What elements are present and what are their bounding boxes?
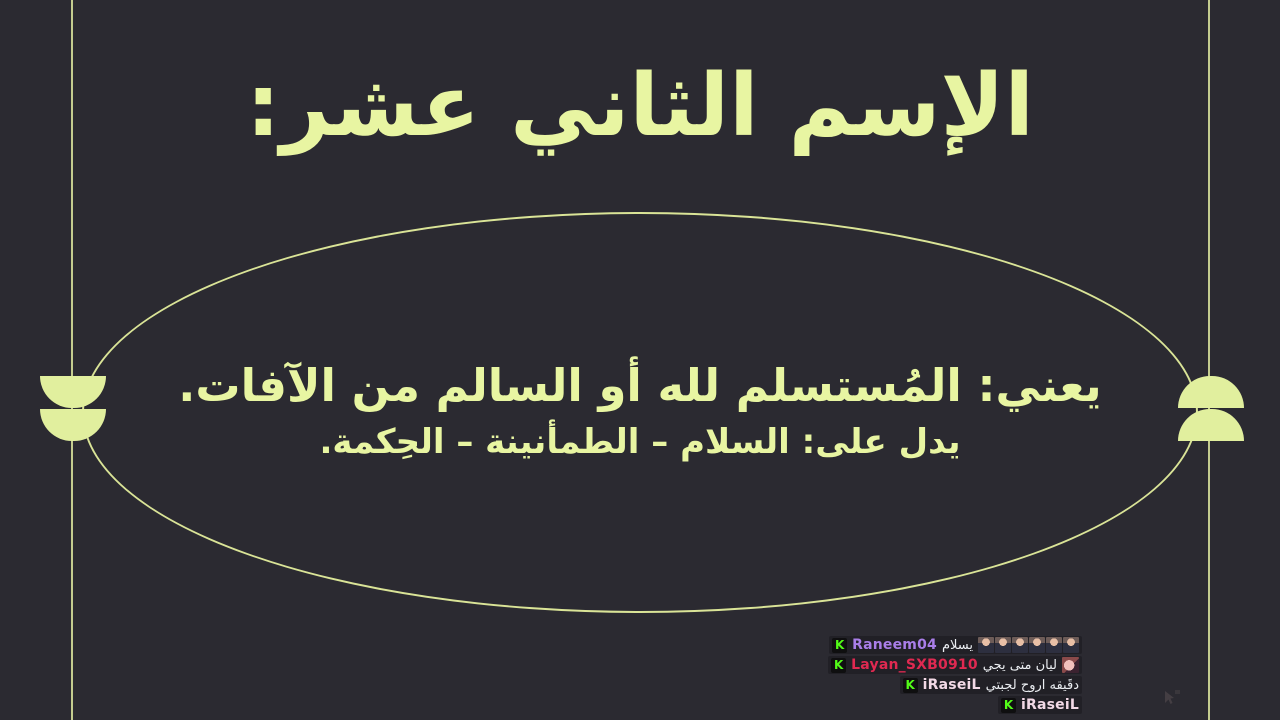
kick-badge-icon: K — [903, 678, 918, 693]
chat-emote-icon — [995, 637, 1011, 653]
chat-username[interactable]: Layan_SXB0910 — [851, 657, 978, 673]
chat-username[interactable]: Raneem04 — [852, 637, 937, 653]
chat-emote-icon — [1046, 637, 1062, 653]
chat-emote-group — [1062, 657, 1079, 673]
chat-emote-icon — [1012, 637, 1028, 653]
kick-badge-letter: K — [835, 639, 844, 651]
chat-message-row[interactable]: KiRaseiLدقَيقه اروح لجبتي — [900, 676, 1082, 694]
kick-badge-letter: K — [834, 659, 843, 671]
chat-message-text: يسلام — [942, 638, 973, 653]
chat-username[interactable]: iRaseiL — [923, 677, 981, 693]
chat-emote-icon — [1029, 637, 1045, 653]
chat-message-row[interactable]: KRaneem04يسلام — [829, 636, 1082, 654]
right-ornament-dome-top — [1178, 376, 1244, 408]
chat-message-row[interactable]: KiRaseiL — [998, 696, 1082, 714]
left-ornament-dome-top — [40, 376, 106, 408]
kick-badge-letter: K — [906, 679, 915, 691]
chat-emote-icon — [1063, 637, 1079, 653]
slide-body: يعني: المُستسلم لله أو السالم من الآفات.… — [120, 358, 1160, 466]
kick-badge-icon: K — [832, 638, 847, 653]
presentation-slide-stage: الإسم الثاني عشر: يعني: المُستسلم لله أو… — [0, 0, 1280, 720]
kick-badge-icon: K — [1001, 698, 1016, 713]
chat-message-text: ليان متى يجي — [983, 658, 1057, 673]
live-chat-overlay[interactable]: KRaneem04يسلامKLayan_SXB0910ليان متى يجي… — [662, 636, 1082, 714]
chat-message-text: دقَيقه اروح لجبتي — [986, 678, 1079, 693]
right-ornament-dome-bottom — [1178, 409, 1244, 441]
chat-username[interactable]: iRaseiL — [1021, 697, 1079, 713]
chat-message-row[interactable]: KLayan_SXB0910ليان متى يجي — [828, 656, 1082, 674]
chat-emote-icon — [978, 637, 994, 653]
slide-body-line-2: يدل على: السلام – الطمأنينة – الحِكمة. — [120, 420, 1160, 466]
right-ornament — [1178, 376, 1244, 442]
kick-badge-icon: K — [831, 658, 846, 673]
slide-body-line-1: يعني: المُستسلم لله أو السالم من الآفات. — [120, 358, 1160, 414]
corner-watermark-icon — [1162, 688, 1182, 706]
kick-badge-letter: K — [1004, 699, 1013, 711]
chat-emote-group — [978, 637, 1079, 653]
left-ornament-dome-bottom — [40, 409, 106, 441]
slide-title: الإسم الثاني عشر: — [0, 58, 1280, 154]
left-ornament — [40, 376, 106, 442]
chat-emote-icon — [1062, 657, 1079, 673]
